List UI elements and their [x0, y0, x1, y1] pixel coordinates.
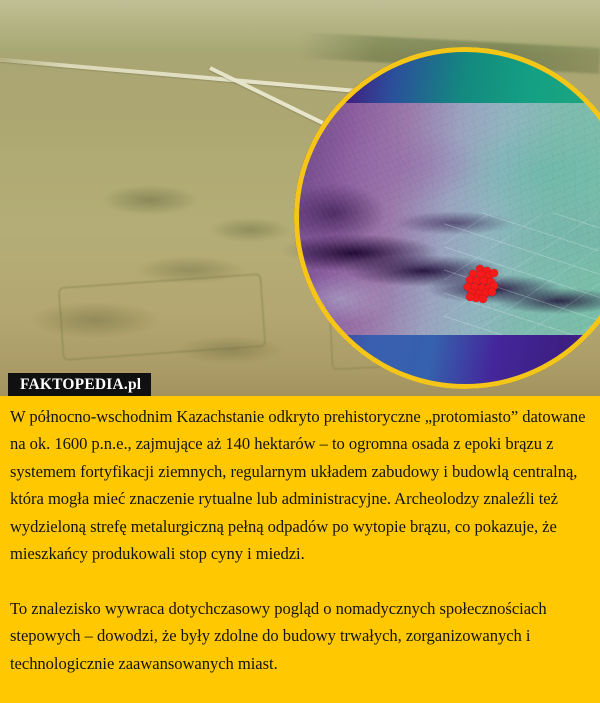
caption-paragraph-2: To znalezisko wywraca dotychczasowy pogl… — [10, 595, 586, 677]
caption-paragraph-1: W północno-wschodnim Kazachstanie odkryt… — [10, 403, 586, 567]
site-logo-badge[interactable]: FAKTOPEDIA.pl — [8, 373, 151, 396]
ground-feature-outline — [58, 273, 267, 361]
satellite-map-inset — [294, 47, 600, 389]
hero-photo: FAKTOPEDIA.pl — [0, 0, 600, 396]
site-logo-text: FAKTOPEDIA.pl — [20, 377, 141, 393]
caption-block: W północno-wschodnim Kazachstanie odkryt… — [0, 396, 600, 703]
faktopedia-card: FAKTOPEDIA.pl W północno-wschodnim Kazac… — [0, 0, 600, 703]
